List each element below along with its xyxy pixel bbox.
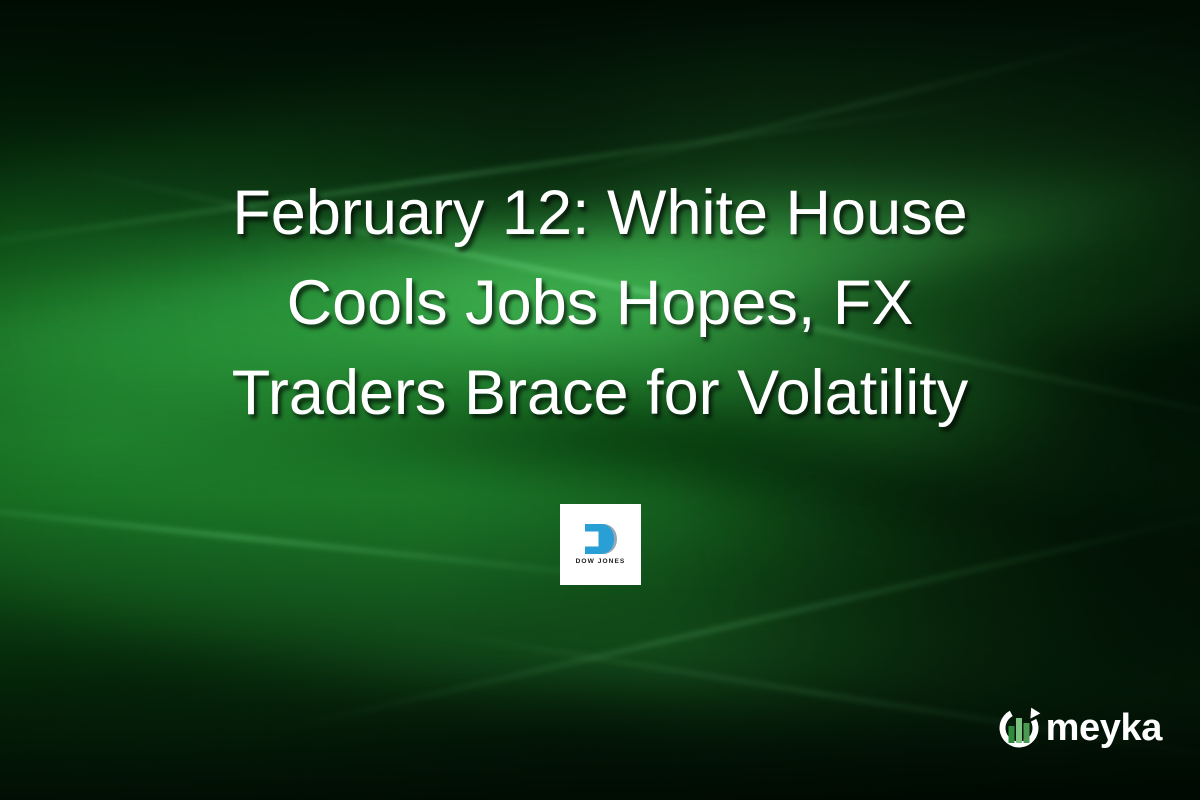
dow-jones-logo-card: DOW JONES [560, 504, 641, 585]
meyka-ring-bars-icon [995, 704, 1043, 752]
meyka-watermark: meyka [995, 704, 1162, 752]
dow-jones-d-icon [584, 524, 618, 554]
meyka-wordmark: meyka [1046, 709, 1162, 747]
news-banner: February 12: White House Cools Jobs Hope… [0, 0, 1200, 800]
headline-line-1: February 12: White House [70, 168, 1130, 258]
headline-line-3: Traders Brace for Volatility [70, 348, 1130, 438]
headline-line-2: Cools Jobs Hopes, FX [70, 258, 1130, 348]
dow-jones-wordmark: DOW JONES [576, 559, 626, 566]
headline: February 12: White House Cools Jobs Hope… [0, 168, 1200, 438]
